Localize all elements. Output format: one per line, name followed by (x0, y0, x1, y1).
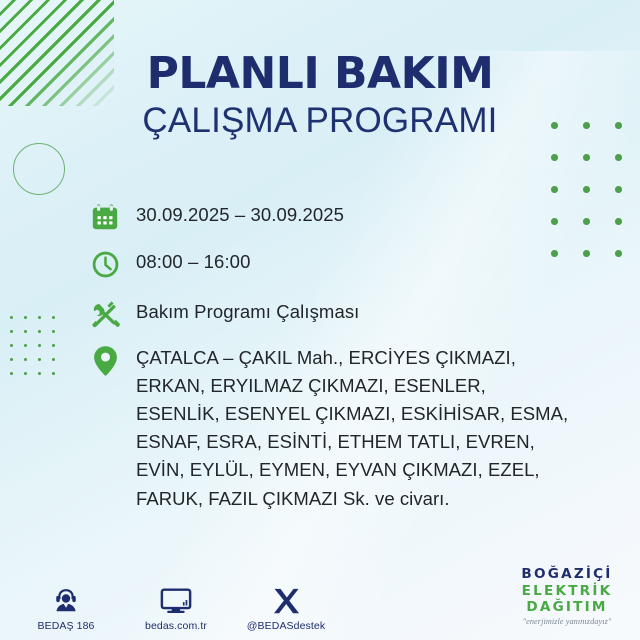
decorative-dot (551, 154, 558, 161)
poster-header: PLANLI BAKIM ÇALIŞMA PROGRAMI (0, 52, 640, 140)
outage-info-block: 30.09.2025 – 30.09.2025 08:00 – 16:00 (88, 200, 608, 527)
dot-grid-left-decoration (10, 316, 70, 390)
poster-canvas: PLANLI BAKIM ÇALIŞMA PROGRAMI (0, 0, 640, 640)
decorative-dot (38, 358, 41, 361)
address-line: ÇATALCA – ÇAKIL Mah., ERCİYES ÇIKMAZI, (136, 344, 568, 372)
brand-line-elektrik: ELEKTRİK (508, 583, 626, 599)
info-row-time: 08:00 – 16:00 (88, 247, 608, 281)
contact-twitter-label: @BEDASdestek (242, 620, 330, 632)
decorative-dot (24, 316, 27, 319)
page-subtitle: ÇALIŞMA PROGRAMI (0, 101, 640, 140)
decorative-dot (615, 250, 622, 257)
info-row-work-type: Bakım Programı Çalışması (88, 297, 608, 331)
clock-icon (88, 247, 122, 281)
address-line: EVİN, EYLÜL, EYMEN, EYVAN ÇIKMAZI, EZEL, (136, 456, 568, 484)
x-twitter-icon (242, 581, 330, 615)
address-line: ESENLİK, ESENYEL ÇIKMAZI, ESKİHİSAR, ESM… (136, 400, 568, 428)
decorative-dot (24, 330, 27, 333)
address-text-block: ÇATALCA – ÇAKIL Mah., ERCİYES ÇIKMAZI, E… (136, 343, 568, 513)
brand-line-bogazici: BOĞAZİÇİ (508, 566, 626, 582)
contact-twitter[interactable]: @BEDASdestek (242, 581, 330, 632)
decorative-dot (10, 358, 13, 361)
decorative-dot (10, 330, 13, 333)
decorative-dot (38, 316, 41, 319)
decorative-dot (583, 186, 590, 193)
wrench-screwdriver-icon (88, 297, 122, 331)
decorative-dot (52, 344, 55, 347)
contact-website[interactable]: bedas.com.tr (132, 581, 220, 632)
brand-logo: BOĞAZİÇİ ELEKTRİK DAĞITIM "enerjimizle y… (508, 566, 626, 626)
decorative-dot (52, 316, 55, 319)
address-line: ERKAN, ERYILMAZ ÇIKMAZI, ESENLER, (136, 372, 568, 400)
work-type-text: Bakım Programı Çalışması (136, 297, 359, 322)
decorative-dot (615, 154, 622, 161)
decorative-dot (38, 330, 41, 333)
date-range-text: 30.09.2025 – 30.09.2025 (136, 200, 344, 225)
brand-line-dagitim: DAĞITIM (508, 599, 626, 615)
location-pin-icon (88, 343, 122, 377)
decorative-dot (52, 358, 55, 361)
contact-channels: BEDAŞ 186 bedas.com.tr (22, 581, 330, 632)
decorative-dot (583, 154, 590, 161)
address-line: FARUK, FAZIL ÇIKMAZI Sk. ve civarı. (136, 485, 568, 513)
decorative-dot (10, 316, 13, 319)
poster-footer: BEDAŞ 186 bedas.com.tr (0, 558, 640, 640)
decorative-dot (10, 372, 13, 375)
contact-phone-label: BEDAŞ 186 (22, 620, 110, 632)
decorative-dot (615, 218, 622, 225)
decorative-dot (615, 186, 622, 193)
contact-website-label: bedas.com.tr (132, 620, 220, 632)
decorative-dot (52, 330, 55, 333)
decorative-dot (52, 372, 55, 375)
brand-tagline: "enerjimizle yanınızdayız" (508, 617, 626, 626)
decorative-dot (24, 372, 27, 375)
headset-support-icon (22, 581, 110, 615)
decorative-dot (38, 344, 41, 347)
monitor-website-icon (132, 581, 220, 615)
circle-outline-decoration (13, 143, 65, 195)
info-row-address: ÇATALCA – ÇAKIL Mah., ERCİYES ÇIKMAZI, E… (88, 343, 608, 513)
decorative-dot (10, 344, 13, 347)
time-range-text: 08:00 – 16:00 (136, 247, 250, 272)
page-title: PLANLI BAKIM (0, 52, 640, 97)
decorative-dot (24, 358, 27, 361)
decorative-dot (24, 344, 27, 347)
contact-phone[interactable]: BEDAŞ 186 (22, 581, 110, 632)
address-line: ESNAF, ESRA, ESİNTİ, ETHEM TATLI, EVREN, (136, 428, 568, 456)
decorative-dot (38, 372, 41, 375)
calendar-icon (88, 200, 122, 234)
decorative-dot (551, 186, 558, 193)
info-row-date: 30.09.2025 – 30.09.2025 (88, 200, 608, 234)
